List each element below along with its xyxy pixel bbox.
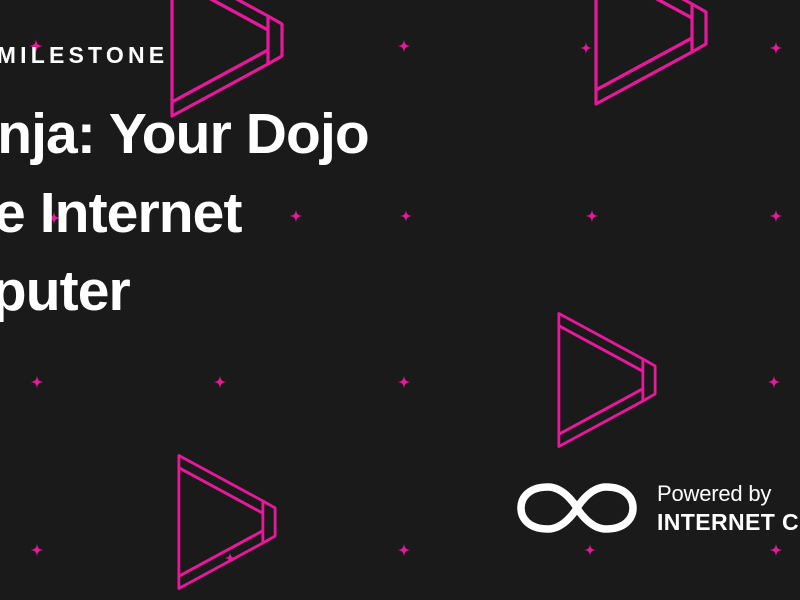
internet-computer-infinity-logo-icon <box>513 472 641 544</box>
headline-line-1: Ninja: Your Dojo <box>0 95 662 174</box>
sparkle-icon <box>584 544 596 556</box>
headline-line-2: the Internet <box>0 174 662 253</box>
headline-line-3: mputer <box>0 252 662 331</box>
sparkle-icon <box>768 376 781 389</box>
sparkle-icon <box>770 42 783 55</box>
banner-text-block: MB MILESTONE Ninja: Your Dojo the Intern… <box>0 44 662 410</box>
internet-computer-brand-label: INTERNET C <box>657 511 799 534</box>
sparkle-icon <box>770 544 783 557</box>
sparkle-icon <box>398 544 411 557</box>
powered-by-lockup: Powered by INTERNET C <box>513 472 799 544</box>
headline-line-4: 3 <box>0 331 662 410</box>
sparkle-icon <box>31 544 44 557</box>
eyebrow-label: MB MILESTONE <box>0 44 662 67</box>
chevron-bottom-left-icon <box>168 452 286 592</box>
page-title: Ninja: Your Dojo the Internet mputer 3 <box>0 95 662 410</box>
powered-by-label: Powered by <box>657 483 799 505</box>
powered-by-text: Powered by INTERNET C <box>657 483 799 534</box>
sparkle-icon <box>770 210 783 223</box>
sparkle-icon <box>225 553 236 564</box>
promo-banner: MB MILESTONE Ninja: Your Dojo the Intern… <box>0 0 800 600</box>
